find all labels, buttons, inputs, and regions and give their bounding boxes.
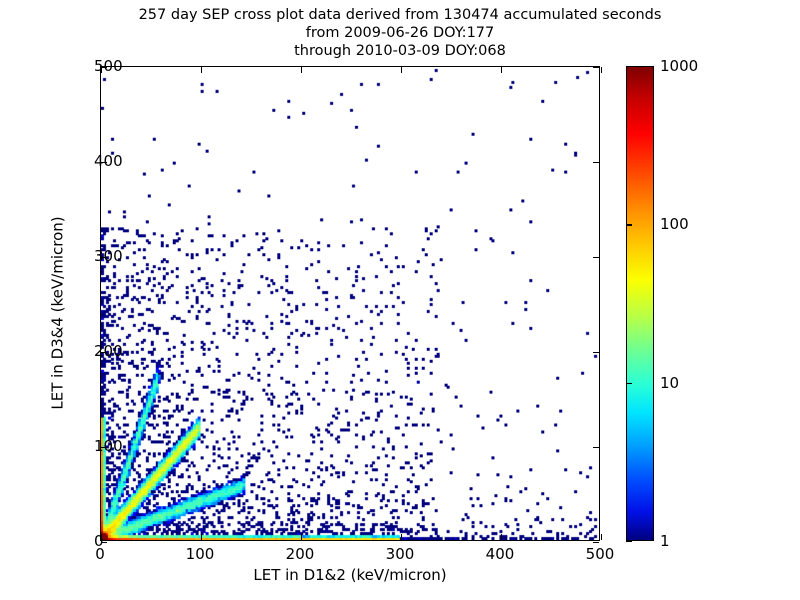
y-tick-400 — [593, 162, 599, 163]
title-line-1: 257 day SEP cross plot data derived from… — [0, 6, 800, 24]
colorbar-tick-1000 — [626, 66, 632, 67]
x-ticklabel-500: 500 — [586, 545, 615, 563]
scatter-heatmap-canvas — [101, 67, 599, 540]
x-tick-200 — [301, 67, 302, 73]
x-tick-200 — [301, 534, 302, 540]
plot-area — [100, 66, 600, 541]
colorbar-ticklabel-10: 10 — [660, 374, 679, 392]
x-tick-100 — [201, 534, 202, 540]
colorbar-tick-1 — [626, 541, 632, 542]
y-tick-500 — [593, 67, 599, 68]
x-tick-400 — [501, 534, 502, 540]
colorbar-tick-10 — [626, 383, 632, 384]
x-tick-400 — [501, 67, 502, 73]
x-axis-label: LET in D1&2 (keV/micron) — [100, 566, 600, 584]
x-tick-300 — [401, 534, 402, 540]
y-tick-200 — [593, 352, 599, 353]
colorbar-tick-100 — [626, 224, 632, 225]
x-tick-500 — [601, 67, 602, 73]
x-ticklabel-200: 200 — [286, 545, 315, 563]
colorbar-ticklabel-1: 1 — [660, 532, 670, 550]
figure-title: 257 day SEP cross plot data derived from… — [0, 6, 800, 60]
colorbar-ticklabel-1000: 1000 — [660, 57, 698, 75]
title-line-2: from 2009-06-26 DOY:177 — [0, 24, 800, 42]
x-tick-500 — [601, 534, 602, 540]
figure-canvas: 257 day SEP cross plot data derived from… — [0, 0, 800, 600]
x-tick-100 — [201, 67, 202, 73]
x-ticklabel-100: 100 — [186, 545, 215, 563]
x-tick-300 — [401, 67, 402, 73]
colorbar-ticklabel-100: 100 — [660, 215, 689, 233]
y-tick-100 — [593, 447, 599, 448]
y-tick-300 — [593, 257, 599, 258]
x-ticklabel-300: 300 — [386, 545, 415, 563]
x-ticklabel-400: 400 — [486, 545, 515, 563]
y-axis-label: LET in D3&4 (keV/micron) — [49, 76, 67, 551]
colorbar-gradient — [626, 66, 654, 541]
y-tick-0 — [593, 542, 599, 543]
